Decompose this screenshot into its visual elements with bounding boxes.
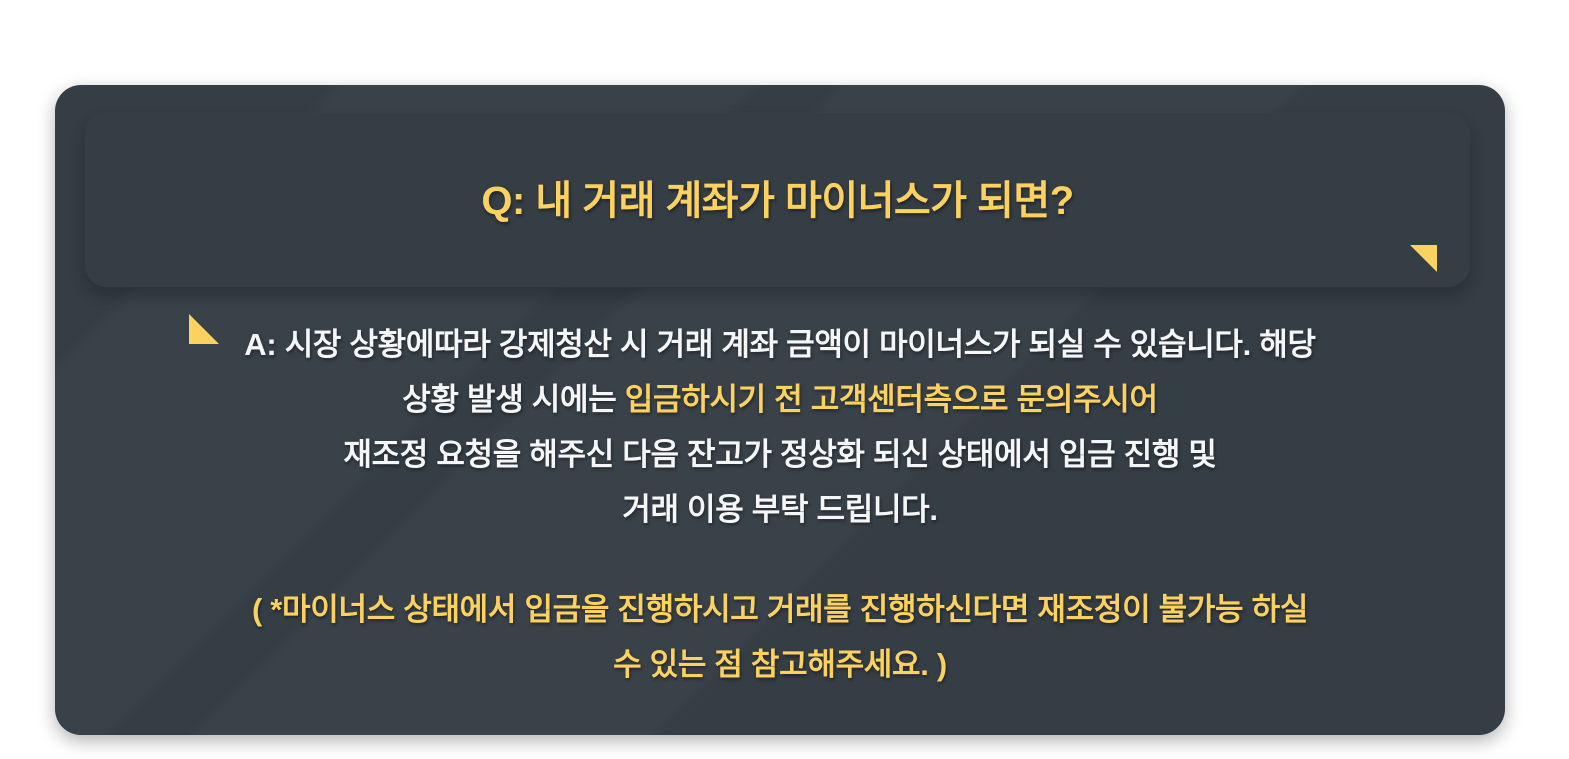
question-title: Q: 내 거래 계좌가 마이너스가 되면? — [85, 113, 1470, 287]
answer-line-3: 재조정 요청을 해주신 다음 잔고가 정상화 되신 상태에서 입금 진행 및 — [115, 427, 1445, 482]
note-line-2: 수 있는 점 참고해주세요. ) — [115, 637, 1445, 692]
faq-card: Q: 내 거래 계좌가 마이너스가 되면? A: 시장 상황에따라 강제청산 시… — [55, 85, 1505, 735]
triangle-accent-top-right-icon — [1410, 245, 1437, 272]
question-header-panel: Q: 내 거래 계좌가 마이너스가 되면? — [85, 113, 1470, 287]
answer-line-4: 거래 이용 부탁 드립니다. — [115, 482, 1445, 537]
answer-text-block: A: 시장 상황에따라 강제청산 시 거래 계좌 금액이 마이너스가 되실 수 … — [115, 317, 1445, 537]
answer-line-2: 상황 발생 시에는 입금하시기 전 고객센터측으로 문의주시어 — [115, 372, 1445, 427]
answer-line-1: A: 시장 상황에따라 강제청산 시 거래 계좌 금액이 마이너스가 되실 수 … — [115, 317, 1445, 372]
answer-line-2-highlight: 입금하시기 전 고객센터측으로 문의주시어 — [625, 382, 1158, 417]
note-line-1: ( *마이너스 상태에서 입금을 진행하시고 거래를 진행하신다면 재조정이 불… — [115, 582, 1445, 637]
answer-line-2-plain: 상황 발생 시에는 — [402, 382, 624, 417]
screenshot-stage: Q: 내 거래 계좌가 마이너스가 되면? A: 시장 상황에따라 강제청산 시… — [0, 0, 1569, 759]
note-text-block: ( *마이너스 상태에서 입금을 진행하시고 거래를 진행하신다면 재조정이 불… — [115, 582, 1445, 692]
